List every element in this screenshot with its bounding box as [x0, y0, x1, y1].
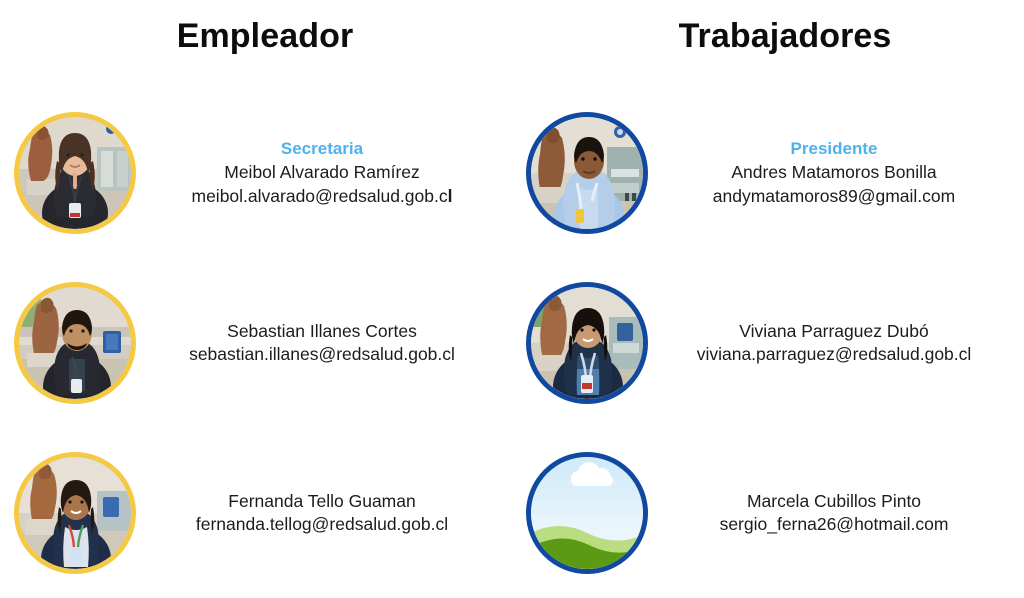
person-name: Viviana Parraguez Dubó — [662, 320, 1006, 343]
person-role: Presidente — [662, 138, 1006, 161]
person-email[interactable]: fernanda.tellog@redsalud.gob.cl — [150, 513, 494, 536]
person-email[interactable]: viviana.parraguez@redsalud.gob.cl — [662, 343, 1006, 366]
list-item: Viviana Parraguez Dubó viviana.parraguez… — [512, 258, 1024, 428]
person-name: Andres Matamoros Bonilla — [662, 161, 1006, 184]
avatar — [14, 452, 136, 574]
person-text: Presidente Andres Matamoros Bonilla andy… — [662, 138, 1024, 209]
avatar — [14, 112, 136, 234]
avatar-wrap — [0, 112, 150, 234]
person-role: Secretaria — [150, 138, 494, 161]
person-email[interactable]: sebastian.illanes@redsalud.gob.cl — [150, 343, 494, 366]
avatar — [526, 282, 648, 404]
workers-column: Presidente Andres Matamoros Bonilla andy… — [512, 88, 1024, 598]
people-columns: Secretaria Meibol Alvarado Ramírez meibo… — [0, 88, 1024, 598]
person-name: Meibol Alvarado Ramírez — [150, 161, 494, 184]
avatar-wrap — [512, 112, 662, 234]
person-text: Viviana Parraguez Dubó viviana.parraguez… — [662, 320, 1024, 367]
photo-woman-dark-jacket-icon — [19, 117, 131, 229]
person-name: Fernanda Tello Guaman — [150, 490, 494, 513]
list-item: Sebastian Illanes Cortes sebastian.illan… — [0, 258, 512, 428]
avatar — [526, 452, 648, 574]
employer-column: Secretaria Meibol Alvarado Ramírez meibo… — [0, 88, 512, 598]
person-email[interactable]: andymatamoros89@gmail.com — [662, 185, 1006, 208]
avatar-wrap — [0, 452, 150, 574]
placeholder-landscape-image-icon — [531, 457, 643, 569]
photo-woman-light-shirt-icon — [19, 457, 131, 569]
column-headings: Empleador Trabajadores — [0, 18, 1024, 55]
avatar — [14, 282, 136, 404]
avatar-wrap — [0, 282, 150, 404]
person-email-main: meibol.alvarado@redsalud.gob.c — [192, 186, 448, 206]
photo-man-blue-shirt-icon — [531, 117, 643, 229]
workers-heading: Trabajadores — [546, 18, 1024, 55]
person-name: Marcela Cubillos Pinto — [662, 490, 1006, 513]
photo-woman-denim-jacket-icon — [531, 287, 643, 399]
person-email[interactable]: meibol.alvarado@redsalud.gob.cl — [150, 185, 494, 208]
avatar — [526, 112, 648, 234]
person-email-tail: l — [448, 186, 453, 206]
photo-man-dark-vest-icon — [19, 287, 131, 399]
avatar-wrap — [512, 452, 662, 574]
list-item: Marcela Cubillos Pinto sergio_ferna26@ho… — [512, 428, 1024, 598]
employer-heading: Empleador — [18, 18, 512, 55]
heading-cell-employer: Empleador — [0, 18, 512, 55]
person-text: Fernanda Tello Guaman fernanda.tellog@re… — [150, 490, 512, 537]
list-item: Secretaria Meibol Alvarado Ramírez meibo… — [0, 88, 512, 258]
list-item: Fernanda Tello Guaman fernanda.tellog@re… — [0, 428, 512, 598]
person-text: Sebastian Illanes Cortes sebastian.illan… — [150, 320, 512, 367]
person-email[interactable]: sergio_ferna26@hotmail.com — [662, 513, 1006, 536]
avatar-wrap — [512, 282, 662, 404]
heading-cell-workers: Trabajadores — [512, 18, 1024, 55]
person-text: Marcela Cubillos Pinto sergio_ferna26@ho… — [662, 490, 1024, 537]
list-item: Presidente Andres Matamoros Bonilla andy… — [512, 88, 1024, 258]
contacts-slide: Empleador Trabajadores — [0, 0, 1024, 576]
person-text: Secretaria Meibol Alvarado Ramírez meibo… — [150, 138, 512, 209]
person-name: Sebastian Illanes Cortes — [150, 320, 494, 343]
